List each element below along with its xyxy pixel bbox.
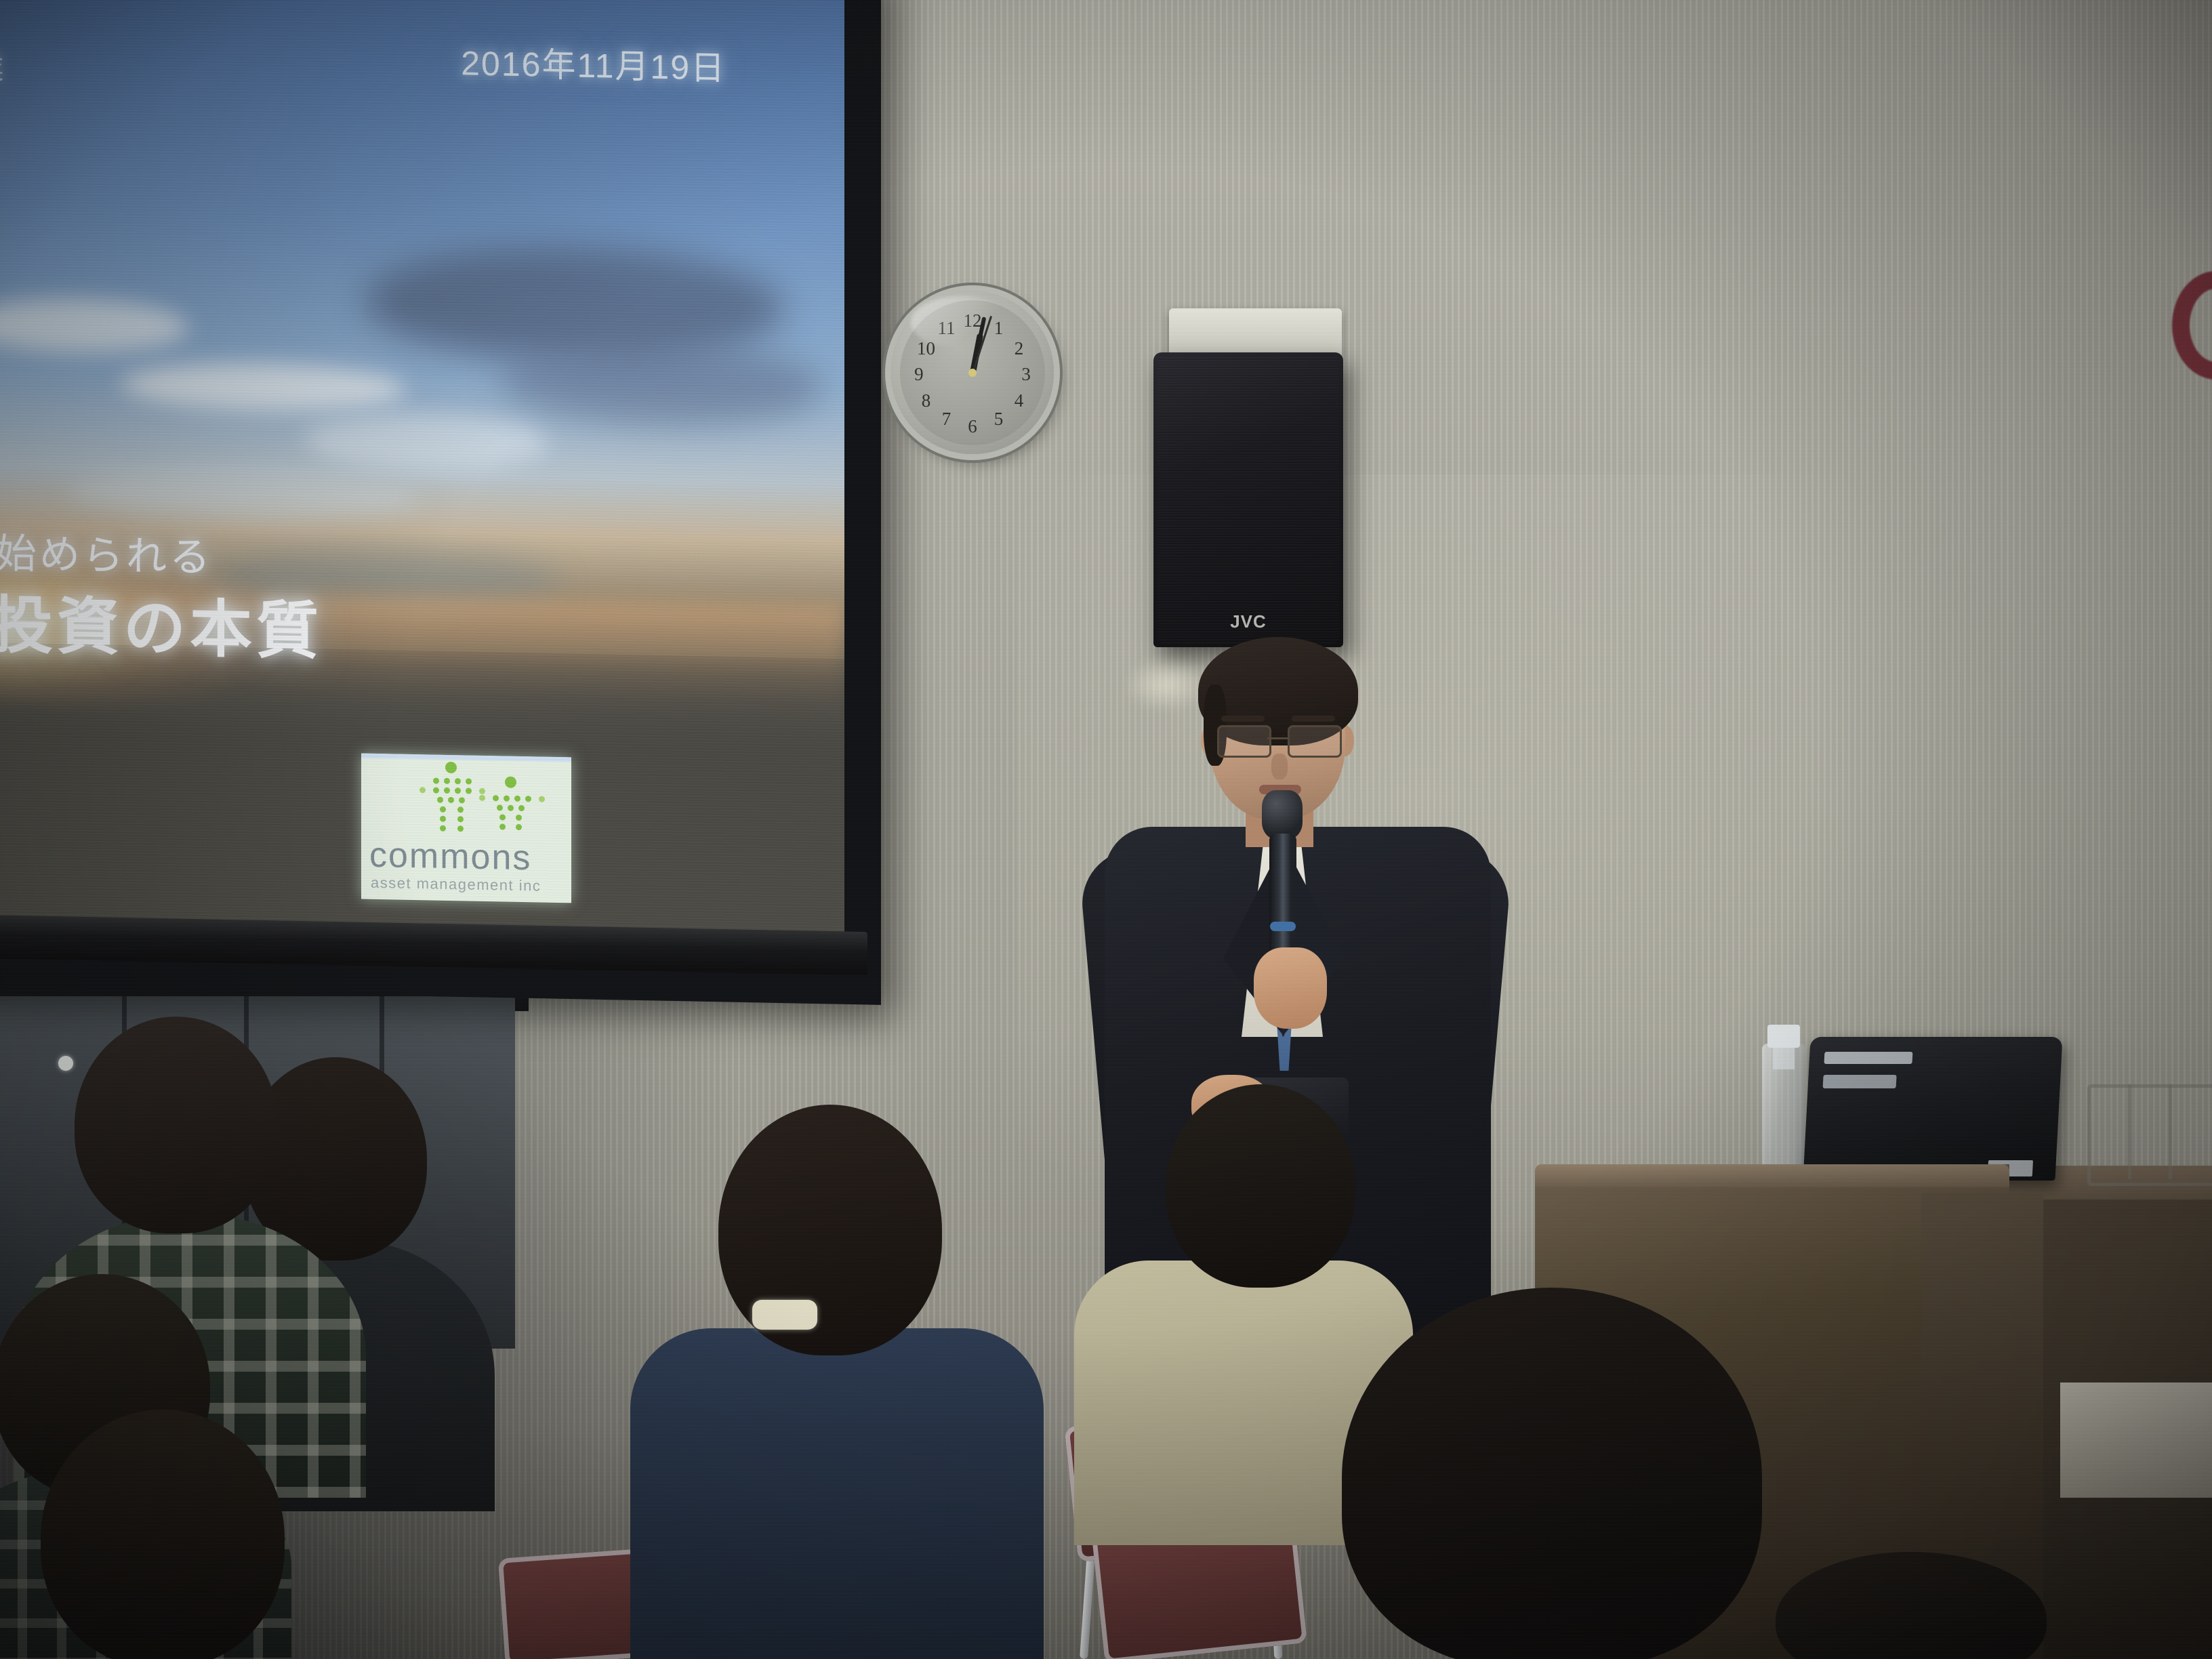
presenter-nose [1271, 754, 1288, 779]
clock-numeral: 7 [936, 411, 956, 426]
slide-title: 期投資の本質 [0, 573, 323, 671]
cloud-shape [500, 340, 825, 428]
eyeglass-lens [1288, 725, 1342, 758]
slide-subtitle: ら始められる [0, 520, 213, 583]
eyeglass-lens [1217, 725, 1271, 758]
clock-numeral: 6 [962, 419, 983, 434]
foreground-head [1342, 1288, 1762, 1659]
laptop-sticker [1823, 1075, 1897, 1088]
laptop-computer[interactable] [1803, 1037, 2062, 1181]
cloud-shape [66, 468, 419, 522]
wire-document-rack [2087, 1084, 2212, 1186]
clock-numeral: 5 [989, 411, 1009, 426]
audience-member-head [1166, 1084, 1355, 1288]
sun-glow [0, 512, 270, 709]
projection-screen-surface: 業 2016年11月19日 ら始められる 期投資の本質 [0, 0, 844, 970]
slide-date-text: 2016年11月19日 [461, 36, 726, 90]
commons-logo-card: commons asset management inc [361, 753, 571, 903]
laptop-sticker [1824, 1052, 1912, 1064]
audience-member-head [75, 1017, 278, 1233]
microphone-head [1262, 790, 1303, 839]
cloud-shape [365, 243, 785, 367]
clock-numeral: 4 [1008, 393, 1029, 408]
projection-screen: 業 2016年11月19日 ら始められる 期投資の本質 [0, 0, 881, 996]
cloud-shape [304, 411, 548, 474]
cloud-shape [121, 361, 405, 413]
commons-wordmark: commons [369, 835, 563, 879]
audience-member-body [630, 1328, 1044, 1659]
clock-center-pin [968, 369, 977, 377]
wall-clock: 12 1 2 3 4 5 6 7 8 9 10 11 [891, 291, 1054, 454]
cloud-shape [209, 545, 561, 613]
microphone-body [1269, 834, 1296, 962]
eyeglasses-icon [1217, 725, 1339, 755]
commons-tagline: asset management inc [371, 874, 567, 896]
eyeglass-bridge [1267, 737, 1289, 739]
locker-handle[interactable] [58, 1056, 73, 1071]
clock-numeral: 9 [909, 367, 929, 382]
clock-numeral: 8 [916, 393, 937, 408]
clock-glass-reflection [911, 296, 1012, 348]
speaker-mount-bracket [1169, 308, 1342, 356]
podium-top-edge [1535, 1164, 2009, 1187]
presenter-hand-holding-microphone [1254, 947, 1327, 1029]
presenter-eyebrow [1292, 716, 1335, 722]
clock-numeral: 2 [1008, 341, 1029, 356]
presentation-slide: 業 2016年11月19日 ら始められる 期投資の本質 [0, 0, 844, 970]
water-bottle-cap [1767, 1025, 1800, 1048]
two-dotted-people-figures-icon [361, 768, 571, 838]
seminar-photo-scene: 業 2016年11月19日 ら始められる 期投資の本質 [0, 0, 2212, 1659]
presenter-eyebrow [1221, 716, 1265, 722]
hair-clip [752, 1300, 817, 1330]
wall-speaker: JVC [1153, 352, 1343, 647]
cloud-shape [0, 296, 188, 354]
clock-numeral: 3 [1016, 367, 1036, 382]
sunset-band [0, 588, 844, 706]
water-bottle-neck [1773, 1045, 1795, 1069]
jvc-brand-logo: JVC [1153, 611, 1343, 632]
foreground-head [41, 1410, 285, 1659]
secondary-table [2060, 1382, 2212, 1498]
slide-corner-text: 業 [0, 43, 4, 88]
microphone-indicator-ring [1270, 922, 1296, 931]
